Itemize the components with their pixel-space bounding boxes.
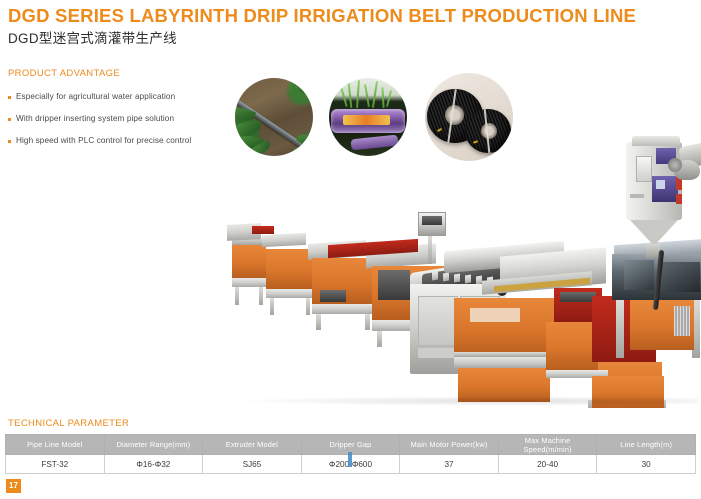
column-header-dripper-gap: Dripper Gap	[301, 435, 400, 455]
drip-line-in-soil-photo	[235, 78, 313, 156]
column-header-line-length: Line Length(m)	[597, 435, 696, 455]
advantage-bullet-text: High speed with PLC control for precise …	[16, 135, 191, 146]
page-number-badge: 17	[6, 479, 21, 493]
cell-max-machine-speed[interactable]: 20-40	[498, 455, 597, 474]
table-row: FST-32 Φ16-Φ32 SJ65 Φ200-Φ600 37 20-40 3…	[6, 455, 696, 474]
slide-page: DGD SERIES LABYRINTH DRIP IRRIGATION BEL…	[0, 0, 701, 499]
column-header-main-motor-power: Main Motor Power(kw)	[400, 435, 499, 455]
column-header-diameter-range: Diameter Range(mm)	[104, 435, 203, 455]
cell-extruder-model[interactable]: SJ65	[203, 455, 302, 474]
cell-diameter-range[interactable]: Φ16-Φ32	[104, 455, 203, 474]
technical-parameter-table: Pipe Line Model Diameter Range(mm) Extru…	[5, 434, 696, 474]
product-advantage-section: PRODUCT ADVANTAGE Especially for agricul…	[8, 68, 233, 157]
black-pipe-coils-photo	[425, 73, 513, 161]
product-advantage-heading: PRODUCT ADVANTAGE	[8, 68, 233, 79]
bullet-square-icon	[8, 96, 11, 99]
product-photo-gallery	[233, 70, 533, 162]
cell-pipe-line-model[interactable]: FST-32	[6, 455, 105, 474]
column-header-pipe-line-model: Pipe Line Model	[6, 435, 105, 455]
advantage-bullet-item: High speed with PLC control for precise …	[8, 135, 233, 146]
drip-irrigation-belt-production-line-photo	[232, 150, 698, 412]
bullet-square-icon	[8, 118, 11, 121]
advantage-bullet-item: With dripper inserting system pipe solut…	[8, 113, 233, 124]
technical-parameter-heading: TECHNICAL PARAMETER	[8, 418, 129, 429]
table-header-row: Pipe Line Model Diameter Range(mm) Extru…	[6, 435, 696, 455]
technical-parameter-table-wrapper: Pipe Line Model Diameter Range(mm) Extru…	[5, 434, 696, 474]
advantage-bullet-item: Especially for agricultural water applic…	[8, 91, 233, 102]
page-title: DGD SERIES LABYRINTH DRIP IRRIGATION BEL…	[8, 5, 698, 27]
advantage-bullet-text: Especially for agricultural water applic…	[16, 91, 175, 102]
cell-line-length[interactable]: 30	[597, 455, 696, 474]
page-header: DGD SERIES LABYRINTH DRIP IRRIGATION BEL…	[8, 5, 698, 49]
cell-dripper-gap[interactable]: Φ200-Φ600	[301, 455, 400, 474]
page-subtitle-chinese: DGD型迷宫式滴灌带生产线	[8, 29, 698, 49]
bullet-square-icon	[8, 140, 11, 143]
advantage-bullet-text: With dripper inserting system pipe solut…	[16, 113, 174, 124]
labyrinth-dripper-emitter-photo	[329, 78, 407, 156]
column-header-extruder-model: Extruder Model	[203, 435, 302, 455]
cell-main-motor-power[interactable]: 37	[400, 455, 499, 474]
column-header-max-machine-speed: Max Machine Speed(m/min)	[498, 435, 597, 455]
